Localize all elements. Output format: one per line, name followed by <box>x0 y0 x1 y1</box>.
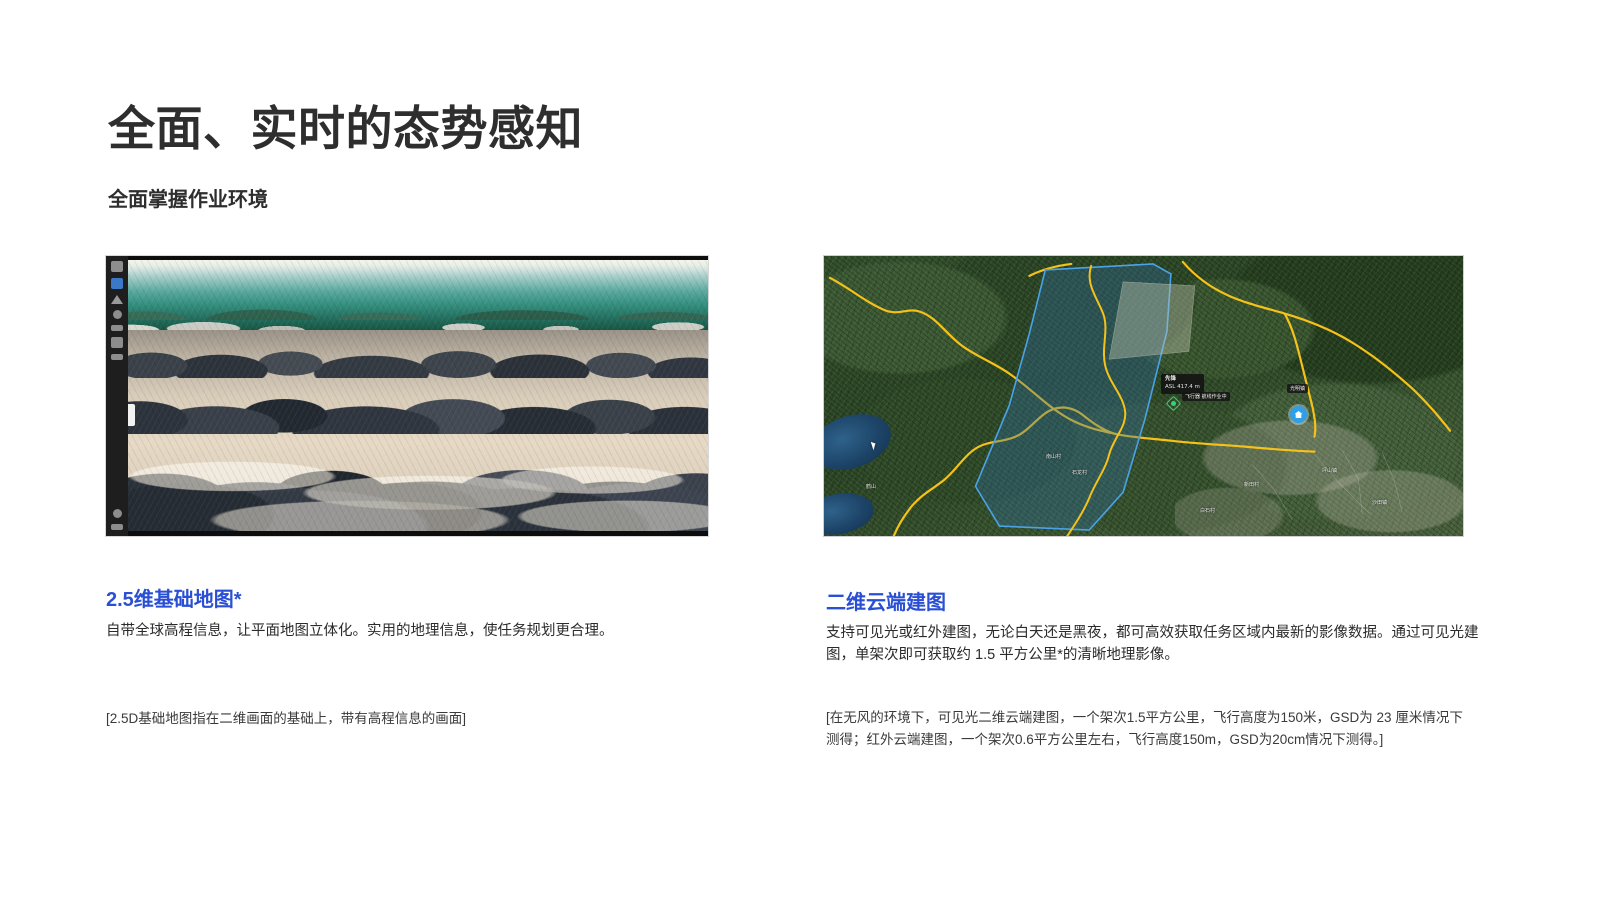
altitude-tooltip-name: 先锋 <box>1165 376 1200 384</box>
fullscreen-icon[interactable] <box>111 524 123 530</box>
aircraft-marker[interactable] <box>1168 398 1179 409</box>
left-heading-text: 2.5维基础地图* <box>106 588 706 612</box>
left-block-heading: 2.5维基础地图* <box>106 588 706 612</box>
right-body-text: 支持可见光或红外建图，无论白天还是黑夜，都可高效获取任务区域内最新的影像数据。通… <box>826 622 1481 667</box>
terrain-icon[interactable] <box>111 295 123 304</box>
left-column <box>105 255 711 537</box>
altitude-tooltip: 先锋 ASL 417.4 m <box>1161 374 1204 394</box>
map-label-1: 南山村 <box>1046 454 1061 460</box>
cursor-icon[interactable] <box>111 261 123 272</box>
layers-icon[interactable] <box>111 278 123 289</box>
aircraft-status-chip[interactable]: 飞行器 航线作业中 <box>1182 392 1230 401</box>
right-block-heading: 二维云端建图 <box>826 591 1466 615</box>
aircraft-core-icon <box>1171 401 1176 406</box>
valley-sand-wash <box>128 440 708 531</box>
right-note-text: [在无风的环境下，可见光二维云端建图，一个架次1.5平方公里，飞行高度为150米… <box>826 707 1476 750</box>
page-title: 全面、实时的态势感知 <box>108 103 583 155</box>
left-body-text: 自带全球高程信息，让平面地图立体化。实用的地理信息，使任务规划更合理。 <box>106 620 700 642</box>
page-subtitle: 全面掌握作业环境 <box>108 188 268 212</box>
terrain-viewport[interactable] <box>106 256 708 536</box>
map-label-2: 石龙村 <box>1072 470 1087 476</box>
near-terrain-layer <box>128 330 708 531</box>
viewer-left-toolbar[interactable] <box>106 256 128 536</box>
map-label-4: 坪山镇 <box>1322 468 1337 474</box>
cloud-mapping-screenshot[interactable]: 先锋 ASL 417.4 m 飞行器 航线作业中 光明镇 鹤山 南山村 石龙村 … <box>823 255 1464 537</box>
map-viewport[interactable]: 先锋 ASL 417.4 m 飞行器 航线作业中 光明镇 鹤山 南山村 石龙村 … <box>824 256 1463 536</box>
field-boundaries-layer <box>1253 451 1403 521</box>
panel-icon[interactable] <box>111 354 123 360</box>
settings-icon[interactable] <box>113 509 122 518</box>
route-icon[interactable] <box>111 337 123 348</box>
left-block-note: [2.5D基础地图指在二维画面的基础上，带有高程信息的画面] <box>106 708 706 730</box>
captured-image-strip <box>1109 282 1195 359</box>
map-vector-overlays <box>824 256 1463 536</box>
map-label-3: 新田村 <box>1244 482 1259 488</box>
left-block-body: 自带全球高程信息，让平面地图立体化。实用的地理信息，使任务规划更合理。 <box>106 620 700 642</box>
location-icon[interactable] <box>113 310 122 319</box>
map-label-0: 鹤山 <box>866 484 876 490</box>
right-block-note: [在无风的环境下，可见光二维云端建图，一个架次1.5平方公里，飞行高度为150米… <box>826 707 1476 750</box>
left-note-text: [2.5D基础地图指在二维画面的基础上，带有高程信息的画面] <box>106 708 706 730</box>
map-label-5: 白石村 <box>1200 508 1215 514</box>
home-point-marker[interactable] <box>1290 406 1307 423</box>
terrain-viewer-screenshot[interactable] <box>105 255 709 537</box>
measure-icon[interactable] <box>111 325 123 331</box>
right-block-body: 支持可见光或红外建图，无论白天还是黑夜，都可高效获取任务区域内最新的影像数据。通… <box>826 622 1481 667</box>
right-heading-text: 二维云端建图 <box>826 591 1466 615</box>
home-icon <box>1295 411 1303 418</box>
map-label-6: 沙田镇 <box>1372 500 1387 506</box>
town-label-chip: 光明镇 <box>1287 384 1308 393</box>
panel-drag-handle[interactable] <box>128 404 135 426</box>
altitude-tooltip-value: ASL 417.4 m <box>1165 384 1200 392</box>
right-column: 先锋 ASL 417.4 m 飞行器 航线作业中 光明镇 鹤山 南山村 石龙村 … <box>823 255 1466 537</box>
terrain-3d-scene <box>128 260 708 531</box>
